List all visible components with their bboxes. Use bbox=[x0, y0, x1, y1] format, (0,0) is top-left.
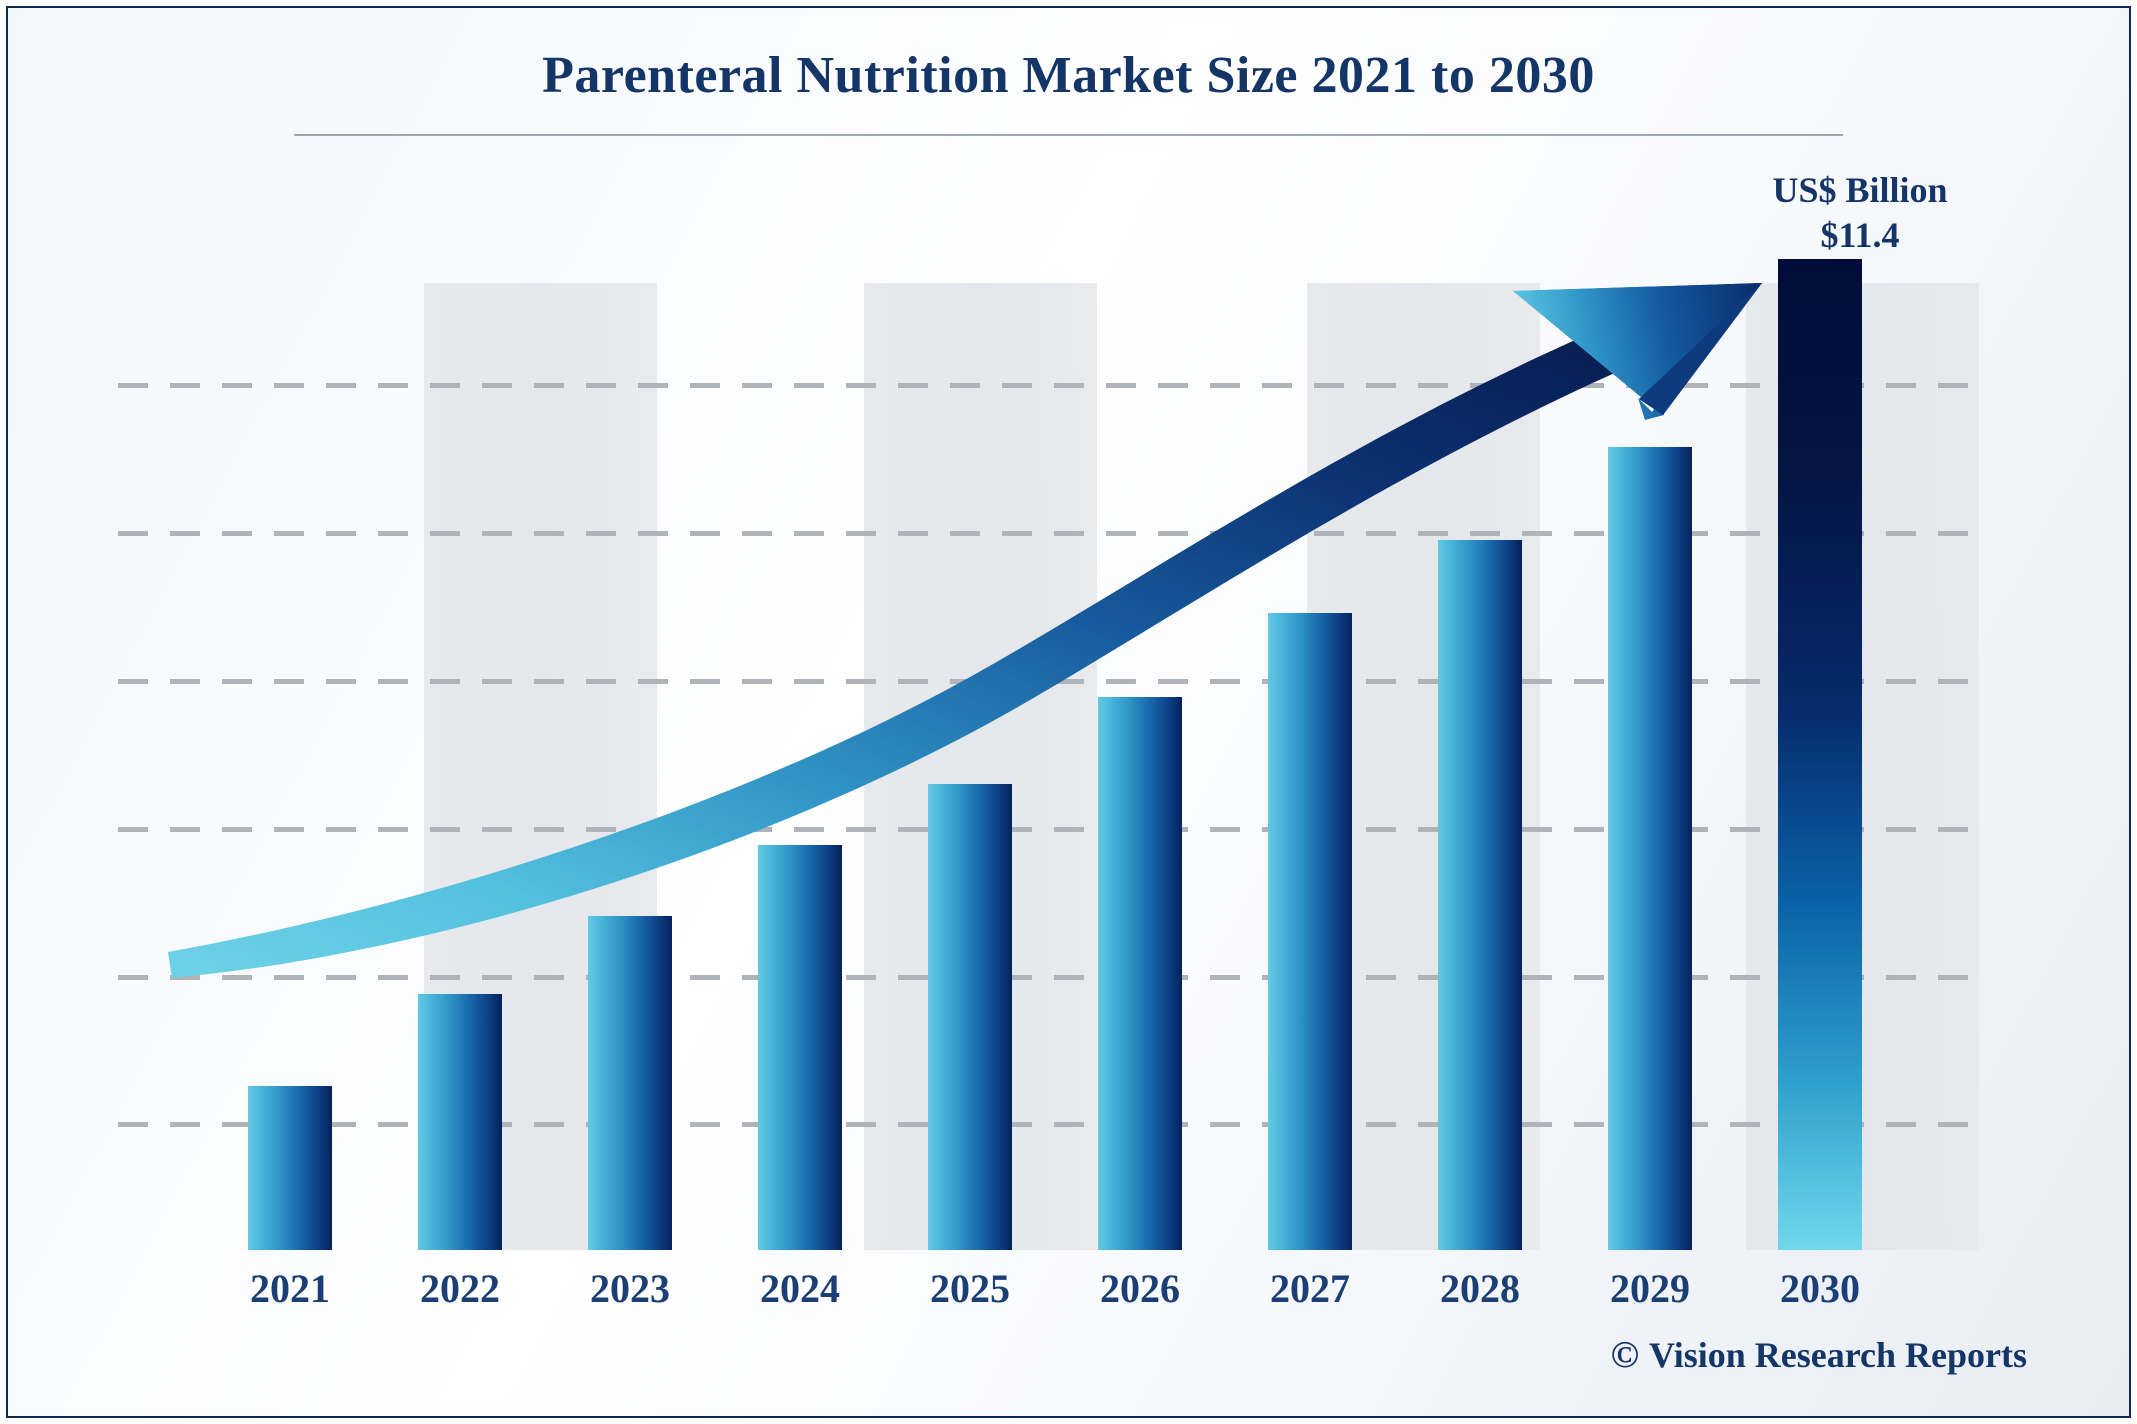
credit-text: Vision Research Reports bbox=[1649, 1334, 2027, 1376]
x-axis-label-2030: 2030 bbox=[1738, 1265, 1902, 1312]
x-axis-label-2022: 2022 bbox=[378, 1265, 542, 1312]
bar-2023 bbox=[588, 916, 672, 1250]
x-axis-label-2026: 2026 bbox=[1058, 1265, 1222, 1312]
x-axis-label-2021: 2021 bbox=[208, 1265, 372, 1312]
gridline bbox=[118, 1122, 1974, 1127]
bar-2029 bbox=[1608, 447, 1692, 1250]
bar-2021 bbox=[248, 1086, 332, 1250]
bar-2022 bbox=[418, 994, 502, 1250]
gridline bbox=[118, 827, 1974, 832]
bar-2026 bbox=[1098, 697, 1182, 1250]
x-axis-label-2023: 2023 bbox=[548, 1265, 712, 1312]
gridline bbox=[118, 679, 1974, 684]
plot-area: 2021202220232024202520262027202820292030 bbox=[0, 0, 2137, 1424]
copyright-credit: © Vision Research Reports bbox=[1611, 1334, 2027, 1376]
gridline bbox=[118, 383, 1974, 388]
bar-2028 bbox=[1438, 540, 1522, 1250]
x-axis-label-2027: 2027 bbox=[1228, 1265, 1392, 1312]
bar-2027 bbox=[1268, 613, 1352, 1250]
gridline bbox=[118, 975, 1974, 980]
bar-2025 bbox=[928, 784, 1012, 1250]
x-axis-label-2025: 2025 bbox=[888, 1265, 1052, 1312]
bar-2030 bbox=[1778, 259, 1862, 1250]
copyright-icon: © bbox=[1611, 1336, 1639, 1374]
x-axis-label-2029: 2029 bbox=[1568, 1265, 1732, 1312]
x-axis-label-2028: 2028 bbox=[1398, 1265, 1562, 1312]
bar-2024 bbox=[758, 845, 842, 1250]
gridline bbox=[118, 531, 1974, 536]
x-axis-label-2024: 2024 bbox=[718, 1265, 882, 1312]
chart-figure: Parenteral Nutrition Market Size 2021 to… bbox=[0, 0, 2137, 1424]
